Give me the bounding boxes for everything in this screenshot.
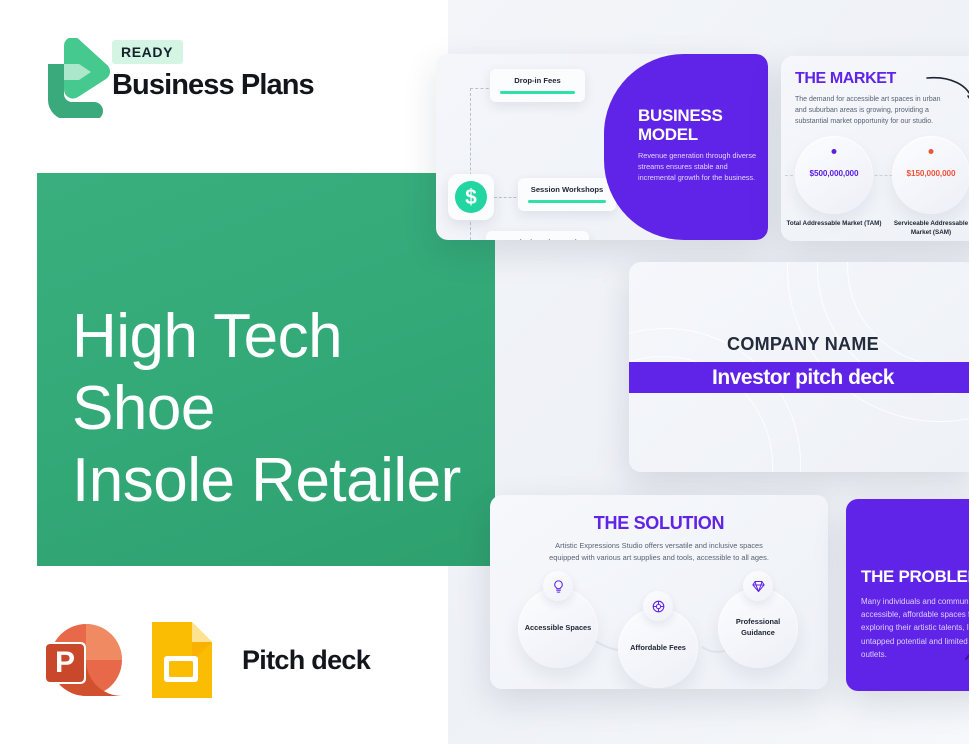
google-slides-icon (146, 618, 216, 702)
metric-caption-sam: Serviceable Addressable Market (SAM) (883, 219, 969, 237)
investor-pitch-deck-label: Investor pitch deck (712, 366, 894, 390)
revenue-chip-drop-in-fees[interactable]: Drop-in Fees (490, 69, 585, 102)
chip-label: Drop-in Fees (500, 76, 575, 85)
slide-problem[interactable]: THE PROBLEM Many individuals and communi… (846, 499, 969, 691)
business-model-panel: BUSINESS MODEL Revenue generation throug… (604, 54, 768, 240)
heading-line-2: MODEL (638, 125, 758, 144)
curved-arrow-icon (925, 72, 969, 110)
revenue-chip-session-workshops[interactable]: Session Workshops (518, 178, 616, 211)
problem-body: Many individuals and communities lack ac… (861, 595, 969, 661)
revenue-chip-commissioned-art-sales[interactable]: Commissioned Art Sales (486, 231, 589, 240)
chip-bar (528, 200, 606, 203)
market-metric-sam[interactable]: $150,000,000 (892, 136, 969, 214)
investor-pitch-deck-band: Investor pitch deck (629, 362, 969, 393)
brand-name: Business Plans (112, 69, 314, 102)
ready-badge: READY (112, 40, 183, 64)
target-icon (643, 591, 673, 621)
metric-value: $500,000,000 (795, 169, 873, 178)
chip-label: Session Workshops (528, 185, 606, 194)
lightbulb-icon (543, 571, 573, 601)
brand-text: READY Business Plans (112, 40, 314, 102)
problem-heading: THE PROBLEM (861, 567, 969, 587)
node-label: Accessible Spaces (525, 623, 592, 634)
dollar-glyph: $ (455, 181, 487, 213)
business-model-body: Revenue generation through diverse strea… (638, 151, 758, 184)
page-title: High Tech Shoe Insole Retailer (72, 301, 492, 517)
solution-body: Artistic Expressions Studio offers versa… (548, 540, 770, 564)
play-triangle-logo-icon (38, 38, 110, 118)
problem-decorative-swoosh-icon (964, 643, 969, 665)
business-model-heading: BUSINESS MODEL (638, 106, 758, 144)
slide-market[interactable]: THE MARKET The demand for accessible art… (781, 56, 969, 241)
market-metric-tam[interactable]: $500,000,000 (795, 136, 873, 214)
metric-dot-icon (832, 149, 837, 154)
metric-caption-tam: Total Addressable Market (TAM) (786, 219, 882, 228)
slide-company-name[interactable]: COMPANY NAME Investor pitch deck (629, 262, 969, 472)
file-format-label: Pitch deck (242, 645, 370, 676)
page-title-line-1: High Tech Shoe (72, 301, 492, 445)
node-label: Affordable Fees (630, 643, 686, 654)
solution-heading: THE SOLUTION (490, 513, 828, 534)
metric-dot-icon (929, 149, 934, 154)
svg-text:P: P (55, 646, 75, 679)
slide-business-model[interactable]: $ Drop-in Fees Session Workshops Commiss… (436, 54, 768, 240)
page-title-line-2: Insole Retailer (72, 445, 492, 517)
chip-bar (500, 91, 575, 94)
slide-solution[interactable]: THE SOLUTION Artistic Expressions Studio… (490, 495, 828, 689)
node-label: Professional Guidance (718, 617, 798, 638)
diamond-icon (743, 571, 773, 601)
dollar-sign-icon: $ (448, 174, 494, 220)
brand-lockup[interactable]: READY Business Plans (38, 36, 368, 120)
market-heading: THE MARKET (795, 70, 896, 88)
powerpoint-icon: P (40, 618, 124, 702)
hero-block: High Tech Shoe Insole Retailer (37, 173, 495, 566)
heading-line-1: BUSINESS (638, 106, 758, 125)
chip-label: Commissioned Art Sales (496, 238, 579, 240)
metric-value: $150,000,000 (892, 169, 969, 178)
file-format-row: P Pitch deck (40, 618, 370, 702)
company-name-title: COMPANY NAME (629, 334, 969, 355)
